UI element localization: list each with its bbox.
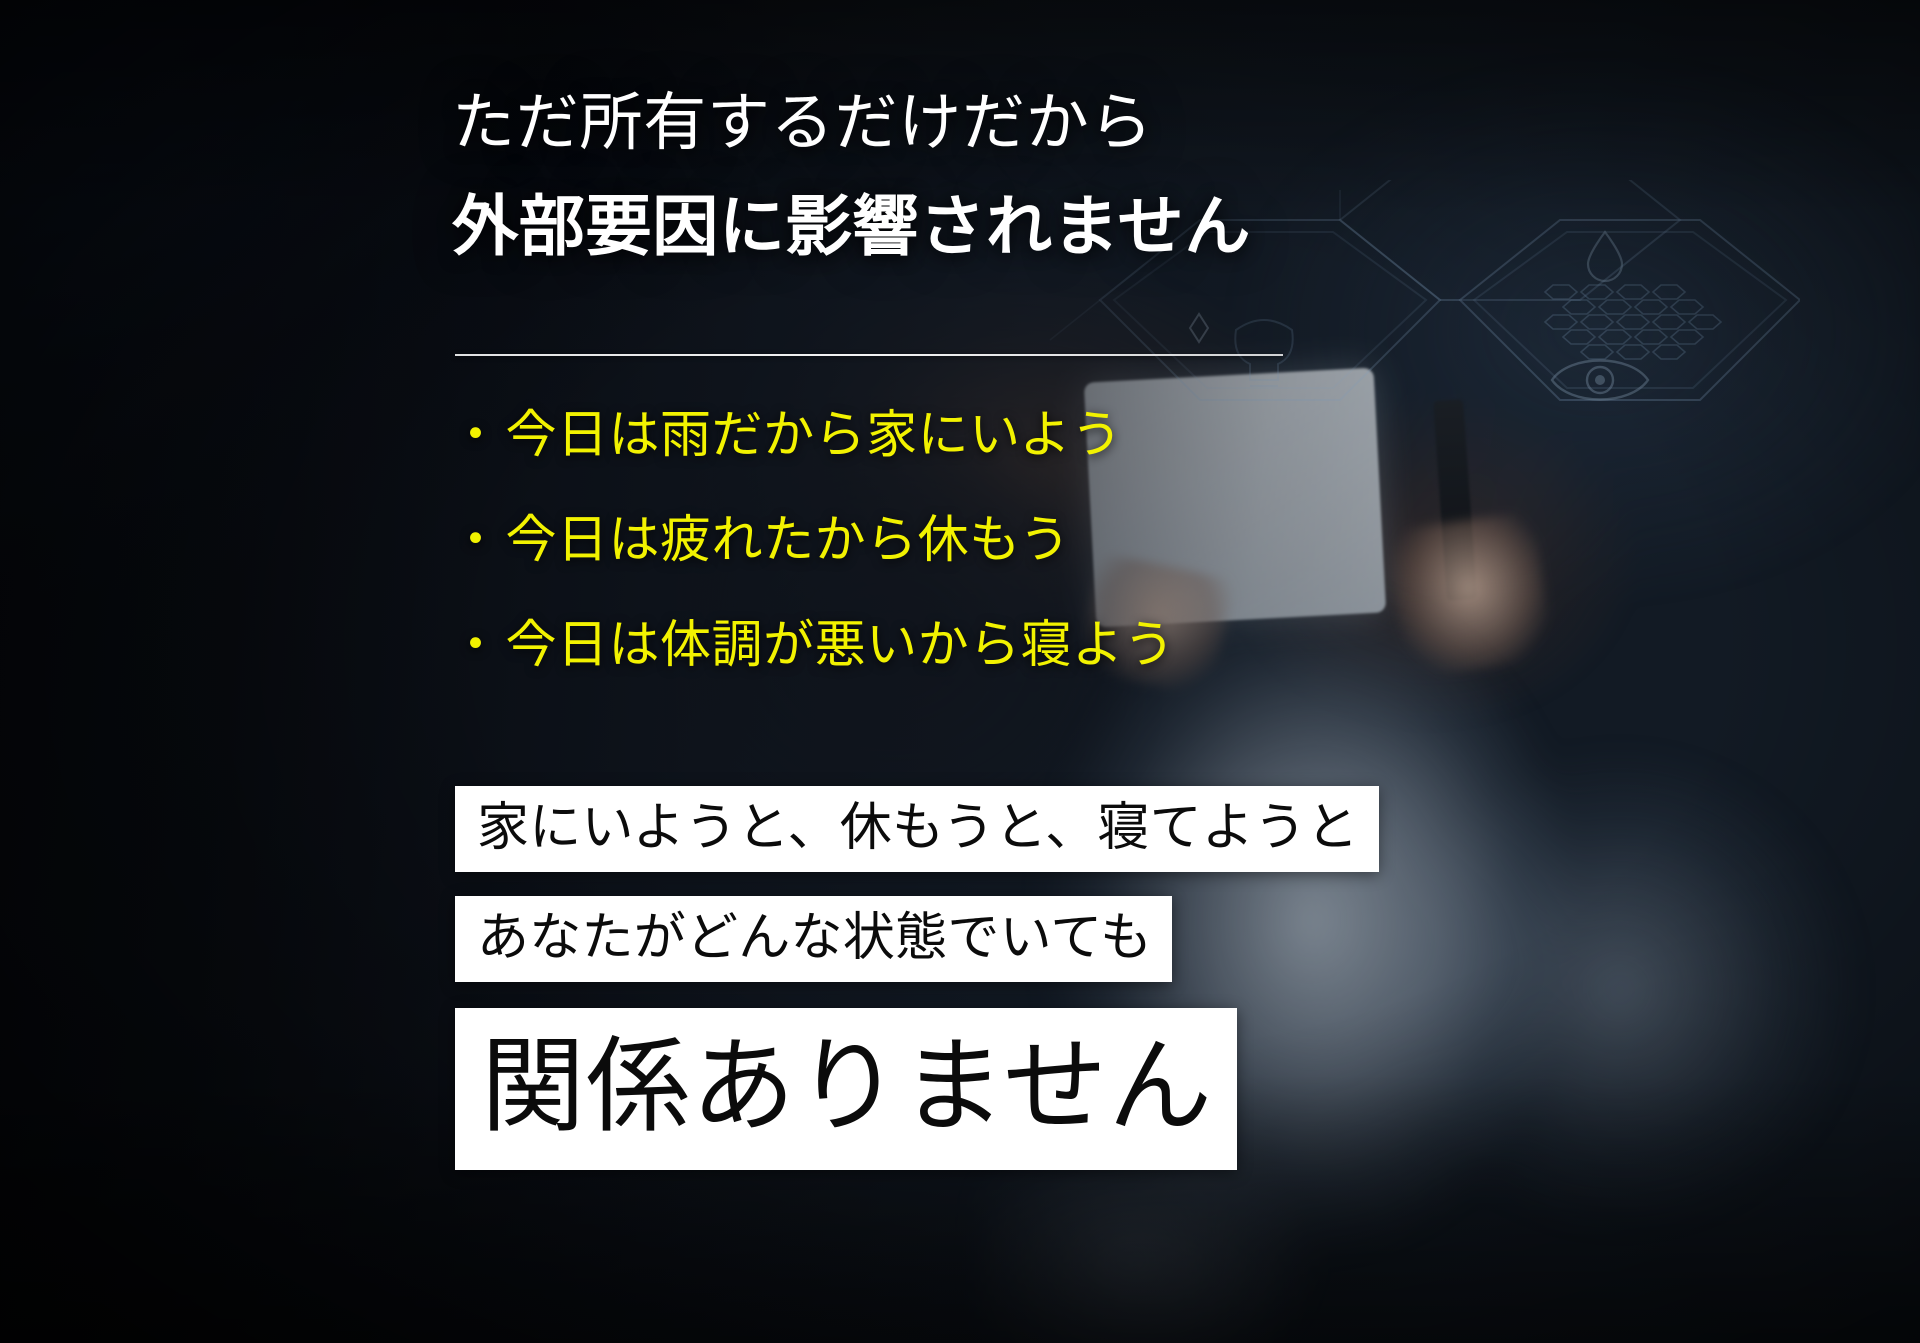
highlight-box-group: 家にいようと、休もうと、寝てようと あなたがどんな状態でいても 関係ありません xyxy=(455,786,1379,1170)
list-item-label: 今日は体調が悪いから寝よう xyxy=(506,618,1176,675)
highlight-box: 家にいようと、休もうと、寝てようと xyxy=(455,786,1379,872)
bullet-marker-icon: ・ xyxy=(450,513,502,570)
list-item: ・ 今日は疲れたから休もう xyxy=(450,513,1500,570)
highlight-box-row: 関係ありません xyxy=(455,982,1379,1170)
list-item: ・ 今日は雨だから家にいよう xyxy=(450,408,1500,465)
list-item: ・ 今日は体調が悪いから寝よう xyxy=(450,618,1500,675)
bullet-marker-icon: ・ xyxy=(450,618,502,675)
highlight-box: あなたがどんな状態でいても xyxy=(455,896,1172,982)
highlight-box-emphasis: 関係ありません xyxy=(455,1008,1237,1170)
bullet-marker-icon: ・ xyxy=(450,408,502,465)
bullet-list: ・ 今日は雨だから家にいよう ・ 今日は疲れたから休もう ・ 今日は体調が悪いか… xyxy=(450,408,1500,723)
list-item-label: 今日は雨だから家にいよう xyxy=(506,408,1123,465)
slide-canvas: ただ所有するだけだから 外部要因に影響されません ・ 今日は雨だから家にいよう … xyxy=(0,0,1920,1343)
slide-content: ただ所有するだけだから 外部要因に影響されません ・ 今日は雨だから家にいよう … xyxy=(0,0,1920,1343)
page-title: ただ所有するだけだから 外部要因に影響されません xyxy=(452,78,1552,276)
highlight-box-row: 家にいようと、休もうと、寝てようと xyxy=(455,786,1379,872)
highlight-box-row: あなたがどんな状態でいても xyxy=(455,872,1379,982)
headline-line-2: 外部要因に影響されません xyxy=(452,180,1552,276)
headline-line-1: ただ所有するだけだから xyxy=(452,78,1552,170)
divider xyxy=(455,354,1283,356)
list-item-label: 今日は疲れたから休もう xyxy=(506,513,1071,570)
